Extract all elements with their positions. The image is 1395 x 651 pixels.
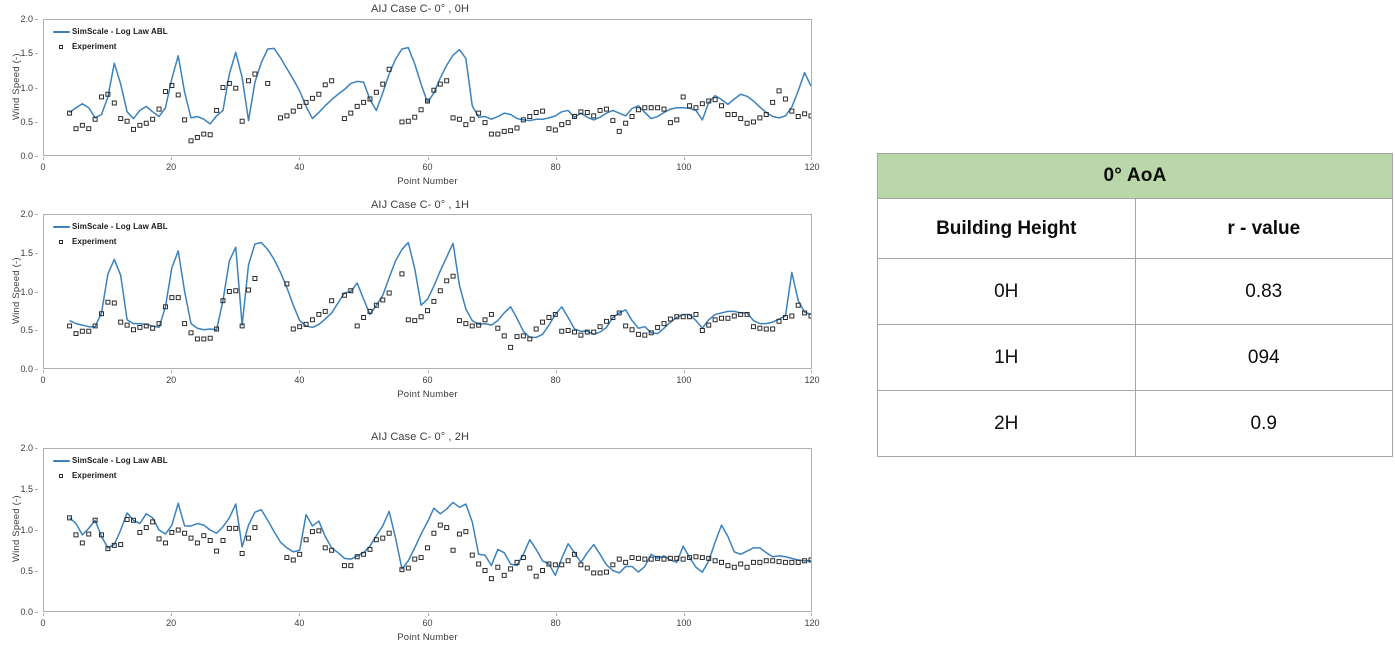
- legend-entry-line: SimScale - Log Law ABL: [50, 222, 168, 231]
- y-tick-mark: [35, 253, 38, 254]
- data-marker: [720, 560, 724, 564]
- data-marker: [771, 100, 775, 104]
- data-marker: [694, 312, 698, 316]
- data-marker: [515, 126, 519, 130]
- x-tick-mark: [428, 157, 429, 160]
- data-marker: [413, 319, 417, 323]
- legend-entry-line: SimScale - Log Law ABL: [50, 27, 168, 36]
- data-marker: [604, 570, 608, 574]
- data-marker: [624, 121, 628, 125]
- legend-label-simscale: SimScale - Log Law ABL: [72, 457, 168, 465]
- data-marker: [144, 526, 148, 530]
- y-tick-mark: [35, 156, 38, 157]
- data-marker: [636, 332, 640, 336]
- data-marker: [464, 530, 468, 534]
- data-marker: [579, 333, 583, 337]
- x-tick-label: 60: [422, 375, 432, 385]
- data-marker: [323, 546, 327, 550]
- data-marker: [636, 556, 640, 560]
- chart-title-2h: AIJ Case C- 0° , 2H: [0, 431, 840, 443]
- data-marker: [125, 119, 129, 123]
- data-marker: [630, 115, 634, 119]
- table-header-row: Building Heightr - value: [878, 199, 1393, 259]
- data-marker: [470, 324, 474, 328]
- data-marker: [349, 564, 353, 568]
- x-tick-label: 100: [676, 375, 691, 385]
- data-marker: [106, 300, 110, 304]
- data-marker: [215, 108, 219, 112]
- data-marker: [362, 316, 366, 320]
- y-tick-mark: [35, 448, 38, 449]
- data-marker: [700, 329, 704, 333]
- data-marker: [643, 557, 647, 561]
- data-marker: [758, 116, 762, 120]
- data-marker: [470, 117, 474, 121]
- data-marker: [656, 325, 660, 329]
- data-marker: [553, 128, 557, 132]
- data-marker: [662, 322, 666, 326]
- data-marker: [74, 533, 78, 537]
- data-marker: [483, 121, 487, 125]
- x-tick-mark: [428, 613, 429, 616]
- data-marker: [163, 90, 167, 94]
- data-marker: [726, 564, 730, 568]
- data-marker: [457, 117, 461, 121]
- data-marker: [195, 337, 199, 341]
- y-tick-mark: [35, 489, 38, 490]
- data-marker: [656, 106, 660, 110]
- data-marker: [502, 334, 506, 338]
- y-tick-label: 1.5: [20, 248, 33, 258]
- data-marker: [496, 132, 500, 136]
- data-marker: [528, 115, 532, 119]
- data-marker: [234, 526, 238, 530]
- data-marker: [112, 101, 116, 105]
- legend-square-marker-icon: [50, 240, 72, 244]
- building-height-cell: 0H: [878, 259, 1136, 325]
- data-marker: [694, 555, 698, 559]
- data-marker: [726, 113, 730, 117]
- x-tick-label: 80: [551, 375, 561, 385]
- x-axis-label-0h: Point Number: [43, 176, 812, 187]
- data-marker: [611, 119, 615, 123]
- data-marker: [234, 289, 238, 293]
- y-tick-label: 2.0: [20, 209, 33, 219]
- data-marker: [585, 566, 589, 570]
- data-marker: [560, 123, 564, 127]
- data-marker: [157, 537, 161, 541]
- building-height-cell: 2H: [878, 391, 1136, 457]
- legend-label-simscale: SimScale - Log Law ABL: [72, 223, 168, 231]
- data-marker: [483, 569, 487, 573]
- x-tick-mark: [556, 370, 557, 373]
- y-tick-mark: [35, 530, 38, 531]
- y-tick-label: 1.5: [20, 484, 33, 494]
- data-marker: [662, 557, 666, 561]
- data-marker: [183, 531, 187, 535]
- data-marker: [176, 528, 180, 532]
- data-marker: [183, 118, 187, 122]
- data-marker: [675, 118, 679, 122]
- data-marker: [464, 123, 468, 127]
- data-marker: [413, 557, 417, 561]
- data-marker: [144, 121, 148, 125]
- r-value-cell: 0.83: [1135, 259, 1393, 325]
- data-marker: [374, 90, 378, 94]
- data-marker: [247, 288, 251, 292]
- data-marker: [457, 532, 461, 536]
- data-marker: [758, 326, 762, 330]
- data-marker: [445, 79, 449, 83]
- data-marker: [700, 102, 704, 106]
- data-marker: [298, 325, 302, 329]
- data-marker: [796, 115, 800, 119]
- data-marker: [630, 328, 634, 332]
- table-row: 2H0.9: [878, 391, 1393, 457]
- data-marker: [598, 108, 602, 112]
- y-tick-label: 0.0: [20, 364, 33, 374]
- data-marker: [598, 571, 602, 575]
- x-tick-mark: [811, 613, 812, 616]
- legend-label-experiment: Experiment: [72, 472, 117, 480]
- data-marker: [310, 318, 314, 322]
- data-marker: [528, 566, 532, 570]
- data-marker: [323, 83, 327, 87]
- data-marker: [87, 329, 91, 333]
- data-marker: [426, 546, 430, 550]
- x-tick-label: 100: [676, 162, 691, 172]
- data-marker: [227, 526, 231, 530]
- data-marker: [573, 330, 577, 334]
- data-marker: [80, 541, 84, 545]
- data-marker: [483, 318, 487, 322]
- data-marker: [330, 79, 334, 83]
- x-tick-mark: [43, 157, 44, 160]
- data-marker: [732, 565, 736, 569]
- data-marker: [138, 325, 142, 329]
- data-marker: [496, 326, 500, 330]
- x-tick-mark: [43, 613, 44, 616]
- y-tick-mark: [35, 122, 38, 123]
- series-markers-experiment: [68, 272, 811, 349]
- data-marker: [355, 104, 359, 108]
- legend-square-marker-icon: [50, 45, 72, 49]
- data-marker: [68, 324, 72, 328]
- data-marker: [298, 552, 302, 556]
- x-tick-label: 0: [40, 375, 45, 385]
- data-marker: [534, 110, 538, 114]
- data-marker: [208, 336, 212, 340]
- series-line-simscale---log-law-abl: [70, 502, 811, 575]
- data-marker: [643, 333, 647, 337]
- data-marker: [451, 274, 455, 278]
- data-marker: [419, 556, 423, 560]
- legend-entry-marker: Experiment: [50, 42, 168, 51]
- data-marker: [138, 530, 142, 534]
- data-marker: [176, 296, 180, 300]
- data-marker: [662, 107, 666, 111]
- series-line-simscale---log-law-abl: [70, 243, 811, 338]
- data-marker: [477, 562, 481, 566]
- data-marker: [700, 556, 704, 560]
- data-marker: [221, 539, 225, 543]
- y-tick-mark: [35, 612, 38, 613]
- data-marker: [240, 552, 244, 556]
- data-marker: [278, 116, 282, 120]
- data-marker: [771, 559, 775, 563]
- x-axis-ticks-0h: 020406080100120: [43, 157, 812, 175]
- data-marker: [541, 320, 545, 324]
- data-marker: [80, 123, 84, 127]
- data-marker: [585, 110, 589, 114]
- data-marker: [285, 114, 289, 118]
- building-height-cell: 1H: [878, 325, 1136, 391]
- data-marker: [355, 324, 359, 328]
- x-tick-label: 40: [294, 162, 304, 172]
- data-marker: [739, 562, 743, 566]
- y-tick-label: 1.0: [20, 287, 33, 297]
- data-marker: [521, 334, 525, 338]
- x-tick-label: 60: [422, 162, 432, 172]
- data-marker: [547, 316, 551, 320]
- legend-label-experiment: Experiment: [72, 43, 117, 51]
- data-marker: [803, 112, 807, 116]
- data-marker: [202, 337, 206, 341]
- data-marker: [330, 299, 334, 303]
- data-marker: [285, 556, 289, 560]
- data-marker: [227, 290, 231, 294]
- data-marker: [604, 107, 608, 111]
- data-marker: [515, 335, 519, 339]
- data-marker: [189, 536, 193, 540]
- data-marker: [745, 565, 749, 569]
- data-marker: [681, 95, 685, 99]
- data-marker: [406, 566, 410, 570]
- table-header-cell-building-height: Building Height: [878, 199, 1136, 259]
- data-marker: [732, 113, 736, 117]
- data-marker: [138, 123, 142, 127]
- x-tick-mark: [428, 370, 429, 373]
- data-marker: [310, 96, 314, 100]
- data-marker: [547, 127, 551, 131]
- data-marker: [342, 564, 346, 568]
- data-marker: [783, 560, 787, 564]
- x-tick-label: 120: [804, 618, 819, 628]
- data-marker: [732, 314, 736, 318]
- chart-panel-2h: AIJ Case C- 0° , 2H 0.00.51.01.52.0 Wind…: [0, 425, 840, 651]
- y-tick-label: 2.0: [20, 443, 33, 453]
- data-marker: [317, 312, 321, 316]
- data-marker: [183, 322, 187, 326]
- y-tick-label: 0.0: [20, 151, 33, 161]
- legend-entry-marker: Experiment: [50, 237, 168, 246]
- data-marker: [624, 560, 628, 564]
- legend-label-experiment: Experiment: [72, 238, 117, 246]
- data-marker: [713, 559, 717, 563]
- data-marker: [445, 526, 449, 530]
- x-tick-label: 80: [551, 618, 561, 628]
- data-marker: [195, 541, 199, 545]
- legend-line-swatch-icon: [50, 226, 72, 228]
- data-marker: [681, 557, 685, 561]
- x-tick-label: 0: [40, 162, 45, 172]
- data-marker: [304, 538, 308, 542]
- y-tick-label: 1.5: [20, 48, 33, 58]
- data-marker: [202, 534, 206, 538]
- data-marker: [400, 272, 404, 276]
- x-tick-label: 120: [804, 375, 819, 385]
- data-marker: [163, 541, 167, 545]
- data-marker: [291, 109, 295, 113]
- data-marker: [509, 567, 513, 571]
- table-row: 1H094: [878, 325, 1393, 391]
- data-marker: [726, 316, 730, 320]
- data-marker: [253, 526, 257, 530]
- y-axis-label-2h: Wind Speed (-): [11, 495, 22, 562]
- data-marker: [323, 309, 327, 313]
- data-marker: [630, 556, 634, 560]
- data-marker: [208, 539, 212, 543]
- r-value-cell: 094: [1135, 325, 1393, 391]
- data-marker: [215, 549, 219, 553]
- legend-line-swatch-icon: [50, 460, 72, 462]
- data-marker: [566, 121, 570, 125]
- data-marker: [131, 328, 135, 332]
- legend-square-marker-icon: [50, 474, 72, 478]
- x-tick-label: 100: [676, 618, 691, 628]
- data-marker: [611, 563, 615, 567]
- data-marker: [579, 563, 583, 567]
- legend-label-simscale: SimScale - Log Law ABL: [72, 28, 168, 36]
- table-header-cell-r-value: r - value: [1135, 199, 1393, 259]
- data-marker: [189, 139, 193, 143]
- data-marker: [80, 329, 84, 333]
- data-marker: [253, 277, 257, 281]
- data-marker: [247, 536, 251, 540]
- data-marker: [592, 114, 596, 118]
- chart-legend-2h: SimScale - Log Law ABL Experiment: [50, 456, 168, 486]
- data-marker: [151, 117, 155, 121]
- y-tick-mark: [35, 369, 38, 370]
- data-marker: [489, 132, 493, 136]
- data-marker: [688, 104, 692, 108]
- data-marker: [745, 121, 749, 125]
- data-marker: [636, 108, 640, 112]
- data-marker: [387, 291, 391, 295]
- data-marker: [739, 117, 743, 121]
- y-tick-label: 0.0: [20, 607, 33, 617]
- data-marker: [202, 132, 206, 136]
- y-tick-label: 0.5: [20, 117, 33, 127]
- y-tick-label: 1.0: [20, 83, 33, 93]
- data-marker: [783, 97, 787, 101]
- data-marker: [604, 319, 608, 323]
- data-marker: [438, 289, 442, 293]
- legend-line-swatch-icon: [50, 31, 72, 33]
- x-tick-mark: [556, 613, 557, 616]
- x-tick-label: 40: [294, 375, 304, 385]
- data-marker: [298, 104, 302, 108]
- data-marker: [234, 86, 238, 90]
- data-marker: [489, 312, 493, 316]
- data-marker: [438, 523, 442, 527]
- data-marker: [419, 108, 423, 112]
- y-tick-label: 0.5: [20, 566, 33, 576]
- data-marker: [419, 315, 423, 319]
- data-marker: [643, 106, 647, 110]
- data-marker: [221, 86, 225, 90]
- data-marker: [566, 329, 570, 333]
- chart-title-0h: AIJ Case C- 0° , 0H: [0, 3, 840, 15]
- x-tick-mark: [811, 370, 812, 373]
- data-marker: [125, 323, 129, 327]
- data-marker: [764, 559, 768, 563]
- data-marker: [541, 109, 545, 113]
- data-marker: [541, 569, 545, 573]
- data-marker: [451, 116, 455, 120]
- data-marker: [240, 119, 244, 123]
- y-tick-mark: [35, 88, 38, 89]
- x-axis-ticks-2h: 020406080100120: [43, 613, 812, 631]
- y-tick-label: 0.5: [20, 325, 33, 335]
- data-marker: [713, 318, 717, 322]
- legend-entry-marker: Experiment: [50, 471, 168, 480]
- data-marker: [489, 577, 493, 581]
- data-marker: [387, 531, 391, 535]
- data-marker: [362, 100, 366, 104]
- data-marker: [119, 320, 123, 324]
- data-marker: [445, 279, 449, 283]
- data-marker: [74, 127, 78, 131]
- data-marker: [598, 325, 602, 329]
- y-axis-label-1h: Wind Speed (-): [11, 257, 22, 324]
- data-marker: [189, 331, 193, 335]
- data-marker: [707, 323, 711, 327]
- x-tick-label: 20: [166, 162, 176, 172]
- data-marker: [406, 318, 410, 322]
- data-marker: [790, 314, 794, 318]
- data-marker: [451, 548, 455, 552]
- data-marker: [413, 115, 417, 119]
- x-tick-mark: [171, 613, 172, 616]
- data-marker: [342, 117, 346, 121]
- data-marker: [496, 565, 500, 569]
- data-marker: [553, 563, 557, 567]
- x-tick-mark: [299, 370, 300, 373]
- data-marker: [170, 530, 174, 534]
- data-marker: [432, 531, 436, 535]
- y-tick-label: 2.0: [20, 14, 33, 24]
- x-tick-label: 120: [804, 162, 819, 172]
- data-marker: [617, 129, 621, 133]
- data-marker: [176, 93, 180, 97]
- data-marker: [317, 92, 321, 96]
- data-marker: [87, 532, 91, 536]
- chart-legend-1h: SimScale - Log Law ABL Experiment: [50, 222, 168, 252]
- data-marker: [119, 117, 123, 121]
- data-marker: [751, 120, 755, 124]
- y-axis-label-0h: Wind Speed (-): [11, 53, 22, 120]
- x-tick-mark: [299, 157, 300, 160]
- data-marker: [432, 299, 436, 303]
- data-marker: [266, 81, 270, 85]
- data-marker: [310, 530, 314, 534]
- data-marker: [777, 560, 781, 564]
- data-marker: [758, 560, 762, 564]
- data-marker: [406, 119, 410, 123]
- data-marker: [291, 327, 295, 331]
- data-marker: [464, 322, 468, 326]
